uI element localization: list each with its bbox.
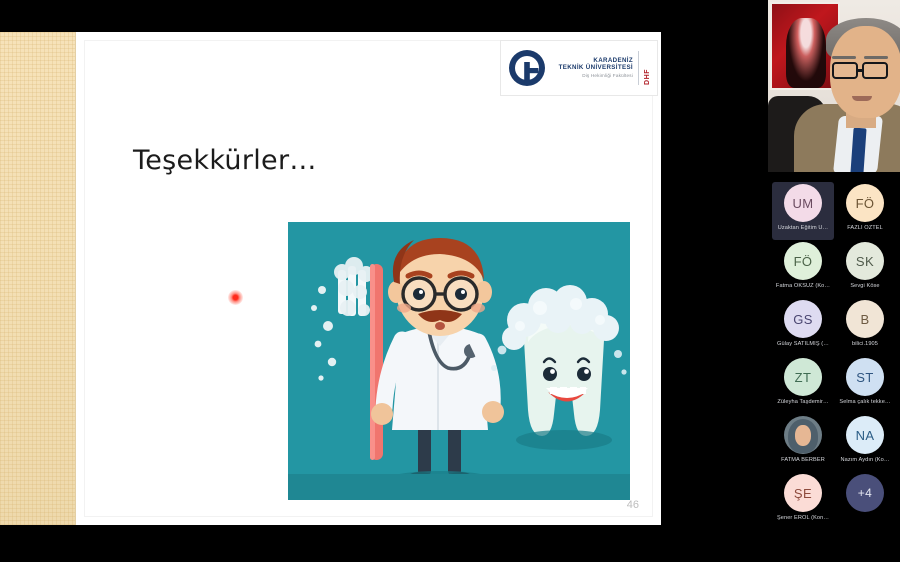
avatar-initials: SK: [846, 242, 884, 280]
avatar-initials: ZT: [784, 358, 822, 396]
logo-faculty-badge: DHF: [644, 51, 651, 85]
participant-name: Sevgi Köse: [850, 283, 879, 289]
avatar-photo: [784, 416, 822, 454]
avatar-initials: ST: [846, 358, 884, 396]
university-logo: KARADENİZ TEKNİK ÜNİVERSİTESİ Diş Hekiml…: [500, 40, 658, 96]
presenter-video-tile[interactable]: [768, 0, 900, 172]
presentation-stage: KARADENİZ TEKNİK ÜNİVERSİTESİ Diş Hekiml…: [0, 0, 768, 562]
avatar-initials: ŞE: [784, 474, 822, 512]
avatar-initials: FÖ: [846, 184, 884, 222]
avatar-initials: GS: [784, 300, 822, 338]
presenter-mouth: [852, 96, 872, 101]
participant-name: Fatma ÖKSÜZ (Ko…: [776, 283, 830, 289]
slide-page-number: 46: [627, 499, 639, 511]
presentation-slide[interactable]: KARADENİZ TEKNİK ÜNİVERSİTESİ Diş Hekiml…: [76, 32, 661, 525]
illustration-floor: [288, 474, 630, 500]
dentist-and-tooth-graphic: [288, 222, 630, 500]
avatar-initials: B: [846, 300, 884, 338]
presenter-glasses-right: [862, 62, 888, 79]
presenter-brow-left: [832, 56, 856, 59]
logo-line-3: Diş Hekimliği Fakültesi: [553, 73, 633, 78]
logo-line-2: TEKNİK ÜNİVERSİTESİ: [553, 65, 633, 72]
participant-name: Selma çalık tekke…: [839, 399, 890, 405]
meeting-screen-share-window: KARADENİZ TEKNİK ÜNİVERSİTESİ Diş Hekiml…: [0, 0, 900, 562]
participant-tile[interactable]: UMUzaktan Eğitim U…: [772, 182, 834, 240]
presenter-brow-right: [864, 56, 888, 59]
participant-tile[interactable]: ŞEŞener EROL (Kon…: [772, 472, 834, 530]
participant-name: Şener EROL (Kon…: [777, 515, 829, 521]
overflow-count-badge: +4: [846, 474, 884, 512]
participant-grid: UMUzaktan Eğitim U…FÖFAZLI ÖZTELFÖFatma …: [768, 180, 900, 562]
participant-tile[interactable]: ZTZüleyha Taşdemir…: [772, 356, 834, 414]
avatar-initials: NA: [846, 416, 884, 454]
laser-pointer-dot: [228, 290, 243, 305]
participant-tile[interactable]: FÖFatma ÖKSÜZ (Ko…: [772, 240, 834, 298]
participant-name: FATMA BERBER: [781, 457, 825, 463]
participant-name: Züleyha Taşdemir…: [777, 399, 828, 405]
participant-tile[interactable]: FÖFAZLI ÖZTEL: [834, 182, 896, 240]
slide-title: Teşekkürler…: [133, 145, 317, 176]
portrait-figure: [786, 18, 826, 88]
participant-tile[interactable]: FATMA BERBER: [772, 414, 834, 472]
logo-divider: [638, 51, 639, 85]
participant-tile[interactable]: NANazım Aydın (Ko…: [834, 414, 896, 472]
participant-name: bilici.1905: [852, 341, 878, 347]
slide-left-paper-margin: [0, 32, 76, 525]
presenter-glasses-bridge: [858, 69, 864, 72]
avatar-initials: FÖ: [784, 242, 822, 280]
participants-rail: UMUzaktan Eğitim U…FÖFAZLI ÖZTELFÖFatma …: [768, 0, 900, 562]
participant-name: Nazım Aydın (Ko…: [840, 457, 889, 463]
presenter-glasses-left: [832, 62, 858, 79]
avatar-initials: UM: [784, 184, 822, 222]
participant-tile[interactable]: STSelma çalık tekke…: [834, 356, 896, 414]
participant-name: Gülay SATILMIŞ (…: [777, 341, 829, 347]
participant-tile[interactable]: SKSevgi Köse: [834, 240, 896, 298]
participant-tile[interactable]: GSGülay SATILMIŞ (…: [772, 298, 834, 356]
participant-name: FAZLI ÖZTEL: [847, 225, 883, 231]
participant-name: Uzaktan Eğitim U…: [778, 225, 829, 231]
participant-tile[interactable]: Bbilici.1905: [834, 298, 896, 356]
dentist-illustration: [288, 222, 630, 500]
avatar-face: [795, 425, 811, 446]
participant-overflow-tile[interactable]: +4: [834, 472, 896, 530]
ktu-emblem-icon: [507, 48, 547, 88]
